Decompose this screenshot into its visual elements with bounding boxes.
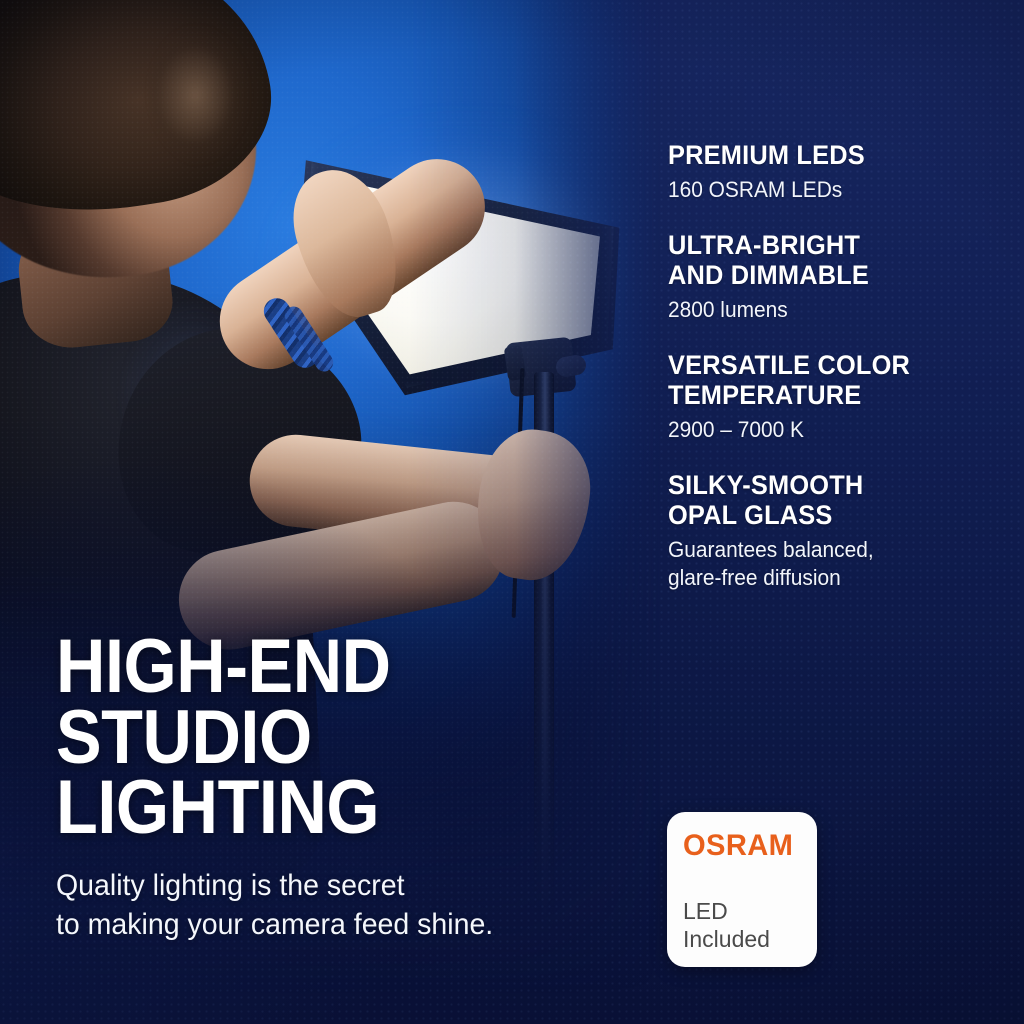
feature-title: ULTRA-BRIGHT AND DIMMABLE <box>668 230 988 290</box>
feature-subtitle: 2800 lumens <box>668 296 991 324</box>
feature-title: SILKY-SMOOTH OPAL GLASS <box>668 470 988 530</box>
badge-caption: LED Included <box>683 898 770 953</box>
product-marketing-image: PREMIUM LEDS 160 OSRAM LEDs ULTRA-BRIGHT… <box>0 0 1024 1024</box>
feature-item-premium-leds: PREMIUM LEDS 160 OSRAM LEDs <box>668 140 1008 204</box>
feature-item-opal-glass: SILKY-SMOOTH OPAL GLASS Guarantees balan… <box>668 470 1008 591</box>
feature-subtitle: 2900 – 7000 K <box>668 416 991 444</box>
page-title: HIGH-END STUDIO LIGHTING <box>56 632 560 844</box>
feature-title: PREMIUM LEDS <box>668 140 988 170</box>
feature-item-ultra-bright: ULTRA-BRIGHT AND DIMMABLE 2800 lumens <box>668 230 1008 324</box>
osram-logo: OSRAM <box>683 829 793 863</box>
feature-subtitle: Guarantees balanced, glare-free diffusio… <box>668 536 991 591</box>
headline-block: HIGH-END STUDIO LIGHTING Quality lightin… <box>56 632 616 944</box>
feature-title: VERSATILE COLOR TEMPERATURE <box>668 350 988 410</box>
page-subtitle: Quality lighting is the secret to making… <box>56 866 588 944</box>
feature-subtitle: 160 OSRAM LEDs <box>668 176 991 204</box>
feature-list: PREMIUM LEDS 160 OSRAM LEDs ULTRA-BRIGHT… <box>668 140 1008 591</box>
feature-item-color-temperature: VERSATILE COLOR TEMPERATURE 2900 – 7000 … <box>668 350 1008 444</box>
osram-led-included-badge: OSRAM LED Included <box>667 812 817 967</box>
